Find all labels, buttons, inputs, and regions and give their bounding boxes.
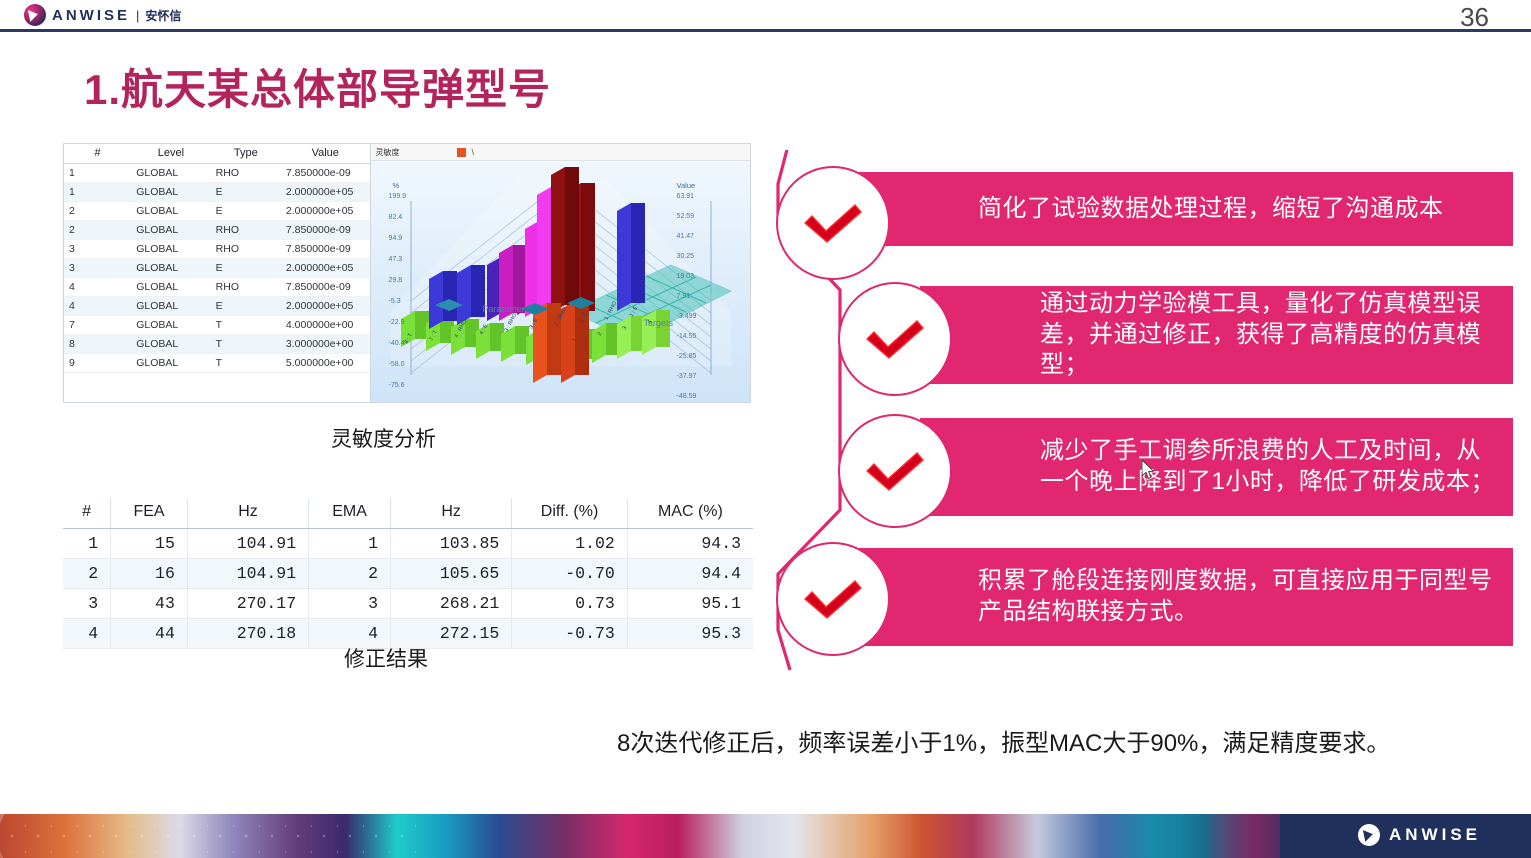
- col-header-value: Value: [281, 144, 370, 164]
- table-cell: T: [211, 335, 281, 354]
- table-cell: 94.3: [627, 529, 753, 559]
- anwise-swoosh-logo-icon: [1358, 824, 1380, 846]
- chart-left-tick: 29.8: [389, 277, 403, 284]
- chart-window-title: 灵敏度: [376, 147, 400, 158]
- brand-logo: ANWISE | 安怀信: [24, 3, 181, 27]
- table-cell: 2: [309, 559, 391, 589]
- chart-right-tick: -3.499: [677, 313, 697, 320]
- chart-tab-text: \: [472, 147, 475, 157]
- brand-logo-separator: |: [136, 8, 139, 23]
- table-cell: GLOBAL: [131, 278, 210, 297]
- col-header-ema: EMA: [309, 498, 391, 529]
- brand-logo-word: ANWISE: [52, 7, 130, 24]
- table-cell: 3: [64, 240, 131, 259]
- chart-parameter-axis-label: Parameter: [483, 304, 525, 314]
- table-cell: 1: [63, 529, 111, 559]
- table-cell: 4: [64, 297, 131, 316]
- slide-footer: ANWISE: [0, 814, 1531, 858]
- table-cell: GLOBAL: [131, 354, 210, 373]
- table-cell: 2.000000e+05: [281, 202, 370, 221]
- chart-right-tick: 30.25: [677, 253, 695, 260]
- col-header-hz: Hz: [187, 498, 308, 529]
- table-cell: GLOBAL: [131, 259, 210, 278]
- table-cell: RHO: [211, 278, 281, 297]
- table-row[interactable]: 7GLOBALT4.000000e+00: [64, 316, 370, 335]
- check-mark-icon: [802, 577, 864, 621]
- chart-right-tick: -48.59: [677, 393, 697, 400]
- table-cell: 7.850000e-09: [281, 240, 370, 259]
- table-cell: 103.85: [391, 529, 512, 559]
- chart-left-tick: 199.9: [389, 193, 407, 200]
- table-cell: 15: [111, 529, 188, 559]
- col-header-index: #: [64, 144, 131, 164]
- table-cell: -0.70: [512, 559, 627, 589]
- mouse-cursor-icon: [1142, 460, 1156, 480]
- table-cell: 8: [64, 335, 131, 354]
- correction-caption: 修正结果: [344, 643, 428, 673]
- benefit-check-badge-1[interactable]: [776, 166, 890, 280]
- table-cell: 43: [111, 589, 188, 619]
- table-cell: E: [211, 183, 281, 202]
- table-cell: GLOBAL: [131, 297, 210, 316]
- table-cell: 7: [64, 316, 131, 335]
- table-cell: T: [211, 316, 281, 335]
- chart-right-tick: -14.55: [677, 333, 697, 340]
- table-cell: E: [211, 297, 281, 316]
- chart-right-axis-title: Value: [677, 181, 696, 190]
- chart-right-tick: -37.97: [677, 373, 697, 380]
- footer-hex-pattern: [0, 814, 420, 858]
- chart-right-tick: 63.91: [677, 193, 695, 200]
- chart-right-tick: 52.59: [677, 213, 695, 220]
- table-cell: 2.000000e+05: [281, 259, 370, 278]
- check-mark-icon: [864, 317, 926, 361]
- benefit-check-badge-3[interactable]: [838, 414, 952, 528]
- table-cell: 4: [63, 619, 111, 649]
- chart-left-tick: -5.3: [389, 298, 401, 305]
- table-cell: 2.000000e+05: [281, 183, 370, 202]
- table-row[interactable]: 3GLOBALE2.000000e+05: [64, 259, 370, 278]
- table-row[interactable]: 216104.912105.65-0.7094.4: [63, 559, 753, 589]
- table-cell: 94.4: [627, 559, 753, 589]
- sensitivity-3d-chart: 灵敏度 \: [371, 144, 750, 402]
- benefit-check-badge-2[interactable]: [838, 282, 952, 396]
- chart-right-tick: 19.03: [677, 273, 695, 280]
- footer-logo-word: ANWISE: [1389, 825, 1481, 845]
- chart-right-tick: 7.91: [677, 293, 691, 300]
- table-cell: 3: [309, 589, 391, 619]
- table-cell: GLOBAL: [131, 221, 210, 240]
- table-cell: 95.3: [627, 619, 753, 649]
- table-cell: 3.000000e+00: [281, 335, 370, 354]
- table-cell: 268.21: [391, 589, 512, 619]
- table-cell: GLOBAL: [131, 316, 210, 335]
- table-row[interactable]: 2GLOBALRHO7.850000e-09: [64, 221, 370, 240]
- col-header-diff: Diff. (%): [512, 498, 627, 529]
- table-cell: 44: [111, 619, 188, 649]
- table-cell: GLOBAL: [131, 202, 210, 221]
- table-cell: RHO: [211, 240, 281, 259]
- sensitivity-caption: 灵敏度分析: [331, 423, 436, 453]
- table-row[interactable]: 343270.173268.210.7395.1: [63, 589, 753, 619]
- anwise-swoosh-logo-icon: [24, 4, 46, 26]
- table-cell: -0.73: [512, 619, 627, 649]
- table-cell: 0.73: [512, 589, 627, 619]
- col-header-level: Level: [131, 144, 210, 164]
- table-cell: 105.65: [391, 559, 512, 589]
- chart-left-tick: 82.4: [389, 214, 403, 221]
- table-row[interactable]: 2GLOBALE2.000000e+05: [64, 202, 370, 221]
- footer-brand-logo: ANWISE: [1358, 824, 1481, 846]
- sensitivity-panel: # Level Type Value 1GLOBALRHO7.850000e-0…: [63, 143, 751, 403]
- table-cell: 5.000000e+00: [281, 354, 370, 373]
- table-cell: 2: [64, 202, 131, 221]
- footer-fade-overlay: [1180, 814, 1320, 858]
- table-cell: 16: [111, 559, 188, 589]
- check-mark-icon: [802, 201, 864, 245]
- table-cell: 9: [64, 354, 131, 373]
- chart-left-axis-title: %: [393, 181, 400, 190]
- table-row[interactable]: 3GLOBALRHO7.850000e-09: [64, 240, 370, 259]
- col-header-fea: FEA: [111, 498, 188, 529]
- table-cell: 270.18: [187, 619, 308, 649]
- chart-left-tick: -40.4: [389, 340, 405, 347]
- slide-canvas: ANWISE | 安怀信 36 1.航天某总体部导弹型号 # Level Typ…: [0, 0, 1531, 858]
- brand-logo-cn: 安怀信: [145, 7, 181, 24]
- chart-left-tick: 47.3: [389, 256, 403, 263]
- chart-window-titlebar: 灵敏度 \: [371, 144, 750, 161]
- table-cell: T: [211, 354, 281, 373]
- table-cell: 104.91: [187, 559, 308, 589]
- chart-left-tick: 94.9: [389, 235, 403, 242]
- table-cell: GLOBAL: [131, 164, 210, 183]
- close-tab-chip-icon[interactable]: [457, 148, 466, 157]
- table-cell: 95.1: [627, 589, 753, 619]
- table-cell: 1.02: [512, 529, 627, 559]
- table-header-row: # Level Type Value: [64, 144, 370, 164]
- col-header-type: Type: [211, 144, 281, 164]
- summary-text: 8次迭代修正后，频率误差小于1%，振型MAC大于90%，满足精度要求。: [617, 723, 1477, 758]
- table-cell: RHO: [211, 221, 281, 240]
- table-row[interactable]: 115104.911103.851.0294.3: [63, 529, 753, 559]
- table-cell: 2: [64, 221, 131, 240]
- chart-left-tick: -58.0: [389, 361, 405, 368]
- table-cell: E: [211, 259, 281, 278]
- chart-left-tick: -75.6: [389, 382, 405, 389]
- table-cell: 7.850000e-09: [281, 221, 370, 240]
- col-header-: #: [63, 498, 111, 529]
- table-cell: GLOBAL: [131, 183, 210, 202]
- table-row[interactable]: 1GLOBALE2.000000e+05: [64, 183, 370, 202]
- table-cell: RHO: [211, 164, 281, 183]
- table-header-row: #FEAHzEMAHzDiff. (%)MAC (%): [63, 498, 753, 529]
- table-row[interactable]: 4GLOBALRHO7.850000e-09: [64, 278, 370, 297]
- chart-plot-area[interactable]: % Value 199.982.494.947.329.8-5.3-22.9-4…: [371, 161, 750, 402]
- table-row[interactable]: 4GLOBALE2.000000e+05: [64, 297, 370, 316]
- table-cell: 3: [63, 589, 111, 619]
- col-header-hz: Hz: [391, 498, 512, 529]
- table-cell: 4.000000e+00: [281, 316, 370, 335]
- check-mark-icon: [864, 449, 926, 493]
- table-cell: 1: [309, 529, 391, 559]
- table-cell: 7.850000e-09: [281, 278, 370, 297]
- table-cell: 2: [63, 559, 111, 589]
- slide-header: ANWISE | 安怀信 36: [0, 0, 1531, 30]
- table-cell: 1: [64, 183, 131, 202]
- table-row[interactable]: 8GLOBALT3.000000e+00: [64, 335, 370, 354]
- table-cell: 2.000000e+05: [281, 297, 370, 316]
- parameter-table: # Level Type Value 1GLOBALRHO7.850000e-0…: [64, 144, 371, 402]
- table-cell: 4: [64, 278, 131, 297]
- benefit-check-badge-4[interactable]: [776, 542, 890, 656]
- chart-left-tick: -22.9: [389, 319, 405, 326]
- table-cell: E: [211, 202, 281, 221]
- benefits-list: 简化了试验数据处理过程，缩短了沟通成本通过动力学验模工具，量化了仿真模型误差，并…: [768, 150, 1513, 675]
- table-cell: 1: [64, 164, 131, 183]
- table-cell: 3: [64, 259, 131, 278]
- chart-right-tick: 41.47: [677, 233, 695, 240]
- page-title: 1.航天某总体部导弹型号: [84, 56, 551, 117]
- chart-right-tick: -25.85: [677, 353, 697, 360]
- correction-results-table: #FEAHzEMAHzDiff. (%)MAC (%) 115104.91110…: [63, 498, 753, 649]
- table-cell: GLOBAL: [131, 335, 210, 354]
- table-cell: 7.850000e-09: [281, 164, 370, 183]
- col-header-mac: MAC (%): [627, 498, 753, 529]
- table-cell: 270.17: [187, 589, 308, 619]
- table-row[interactable]: 1GLOBALRHO7.850000e-09: [64, 164, 370, 183]
- table-cell: GLOBAL: [131, 240, 210, 259]
- table-cell: 104.91: [187, 529, 308, 559]
- table-row[interactable]: 9GLOBALT5.000000e+00: [64, 354, 370, 373]
- header-divider: [0, 29, 1531, 32]
